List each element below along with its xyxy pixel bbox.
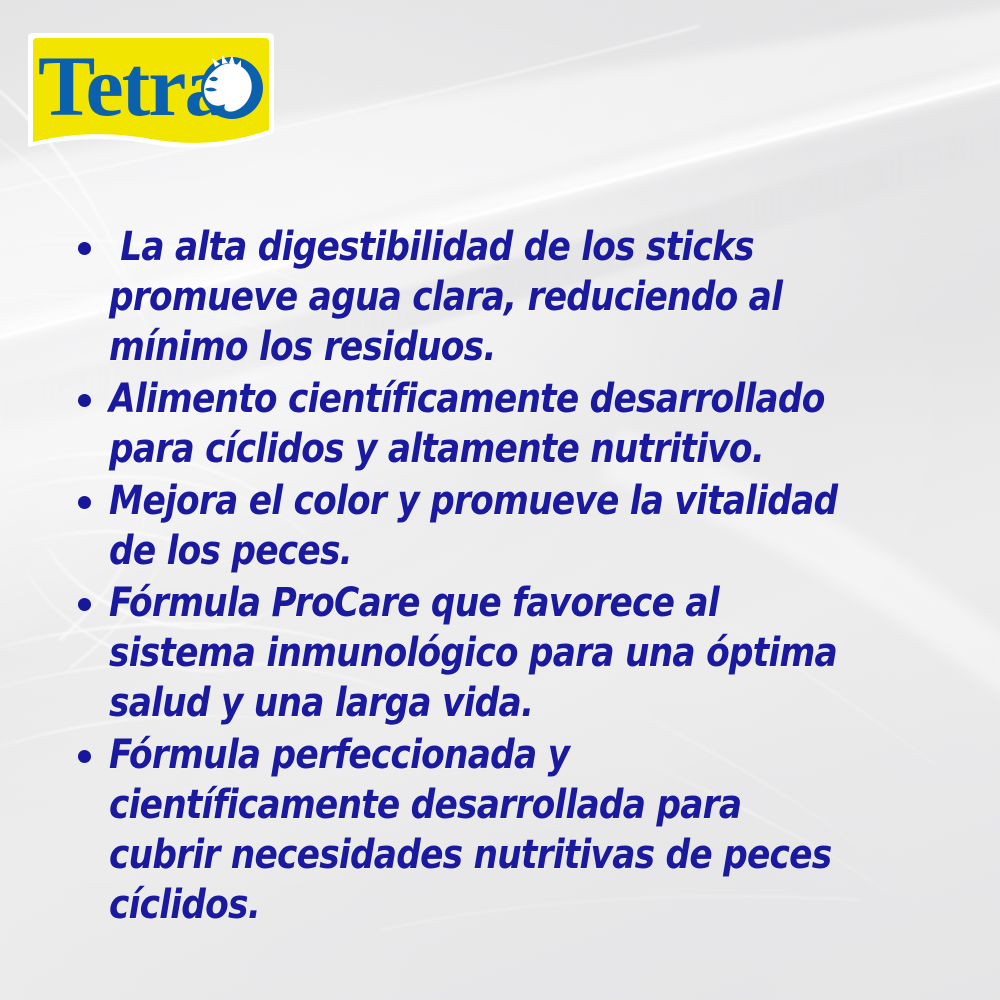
bullet-dot-icon xyxy=(78,750,91,763)
list-item: La alta digestibilidad de los sticks pro… xyxy=(78,222,978,372)
bullet-text: Fórmula ProCare que favorece al sistema … xyxy=(109,578,856,728)
product-feature-banner: Tetra La alta digestibilidad de los stic… xyxy=(0,0,1000,1000)
tetra-logo: Tetra xyxy=(26,31,276,153)
list-item: Fórmula ProCare que favorece al sistema … xyxy=(78,578,978,728)
bullet-text: Fórmula perfeccionada y científicamente … xyxy=(109,730,856,930)
list-item: Mejora el color y promueve la vitalidad … xyxy=(78,476,978,576)
bullet-dot-icon xyxy=(78,394,91,407)
bullet-text: Mejora el color y promueve la vitalidad … xyxy=(109,476,856,576)
feature-bullet-list: La alta digestibilidad de los sticks pro… xyxy=(78,222,978,932)
tetra-logo-svg: Tetra xyxy=(26,31,276,153)
list-item: Alimento científicamente desarrollado pa… xyxy=(78,374,978,474)
bullet-text: La alta digestibilidad de los sticks pro… xyxy=(109,222,856,372)
logo-wordmark: Tetra xyxy=(38,38,226,134)
list-item: Fórmula perfeccionada y científicamente … xyxy=(78,730,978,930)
bullet-text: Alimento científicamente desarrollado pa… xyxy=(109,374,856,474)
bullet-dot-icon xyxy=(78,598,91,611)
bullet-dot-icon xyxy=(78,496,91,509)
bullet-dot-icon xyxy=(78,242,91,255)
